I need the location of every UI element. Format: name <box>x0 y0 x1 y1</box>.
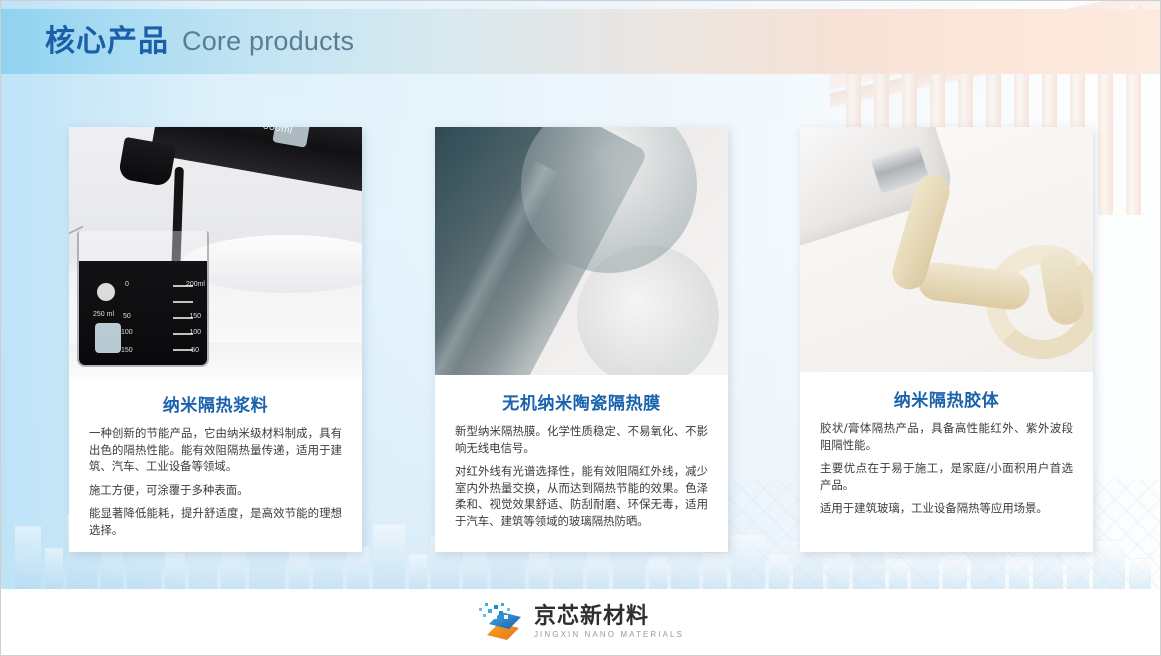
logo-name-cn: 京芯新材料 <box>534 606 684 628</box>
slide-core-products: 核心产品 Core products 500ml <box>0 0 1161 656</box>
product-image-nano-gel <box>800 127 1093 372</box>
logo-mark-icon <box>477 602 523 642</box>
card-title: 纳米隔热胶体 <box>820 386 1073 411</box>
card-title: 无机纳米陶瓷隔热膜 <box>455 389 708 414</box>
card-paragraph: 胶状/膏体隔热产品，具备高性能红外、紫外波段阻隔性能。 <box>820 420 1073 453</box>
product-image-ceramic-film <box>435 127 728 375</box>
card-paragraph: 能显著降低能耗，提升舒适度，是高效节能的理想选择。 <box>89 505 342 538</box>
logo-name-en: JINGXIN NANO MATERIALS <box>534 631 684 639</box>
company-logo[interactable]: 京芯新材料 JINGXIN NANO MATERIALS <box>477 602 684 642</box>
card-paragraph: 施工方便，可涂覆于多种表面。 <box>89 482 342 499</box>
product-card-list: 500ml 0 50 100 150 200ml 150 100 50 <box>1 1 1160 655</box>
footer: 京芯新材料 JINGXIN NANO MATERIALS <box>1 589 1160 655</box>
card-title: 纳米隔热浆料 <box>89 391 342 416</box>
product-card-ceramic-insulation-film[interactable]: 无机纳米陶瓷隔热膜 新型纳米隔热膜。化学性质稳定、不易氧化、不影响无线电信号。 … <box>435 127 728 552</box>
product-card-nano-insulation-slurry[interactable]: 500ml 0 50 100 150 200ml 150 100 50 <box>69 127 362 552</box>
product-card-nano-insulation-gel[interactable]: 纳米隔热胶体 胶状/膏体隔热产品，具备高性能红外、紫外波段阻隔性能。 主要优点在… <box>800 127 1093 552</box>
card-body: 纳米隔热胶体 胶状/膏体隔热产品，具备高性能红外、紫外波段阻隔性能。 主要优点在… <box>800 372 1093 533</box>
card-paragraph: 一种创新的节能产品，它由纳米级材料制成，具有出色的隔热性能。能有效阻隔热量传递，… <box>89 425 342 475</box>
card-paragraph: 适用于建筑玻璃，工业设备隔热等应用场景。 <box>820 500 1073 517</box>
card-paragraph: 对红外线有光谱选择性，能有效阻隔红外线，减少室内外热量交换，从而达到隔热节能的效… <box>455 463 708 529</box>
card-paragraph: 新型纳米隔热膜。化学性质稳定、不易氧化、不影响无线电信号。 <box>455 423 708 456</box>
logo-text: 京芯新材料 JINGXIN NANO MATERIALS <box>534 606 684 639</box>
card-body: 无机纳米陶瓷隔热膜 新型纳米隔热膜。化学性质稳定、不易氧化、不影响无线电信号。 … <box>435 375 728 546</box>
card-body: 纳米隔热浆料 一种创新的节能产品，它由纳米级材料制成，具有出色的隔热性能。能有效… <box>69 377 362 552</box>
product-image-nano-slurry: 500ml 0 50 100 150 200ml 150 100 50 <box>69 127 362 377</box>
card-paragraph: 主要优点在于易于施工，是家庭/小面积用户首选产品。 <box>820 460 1073 493</box>
